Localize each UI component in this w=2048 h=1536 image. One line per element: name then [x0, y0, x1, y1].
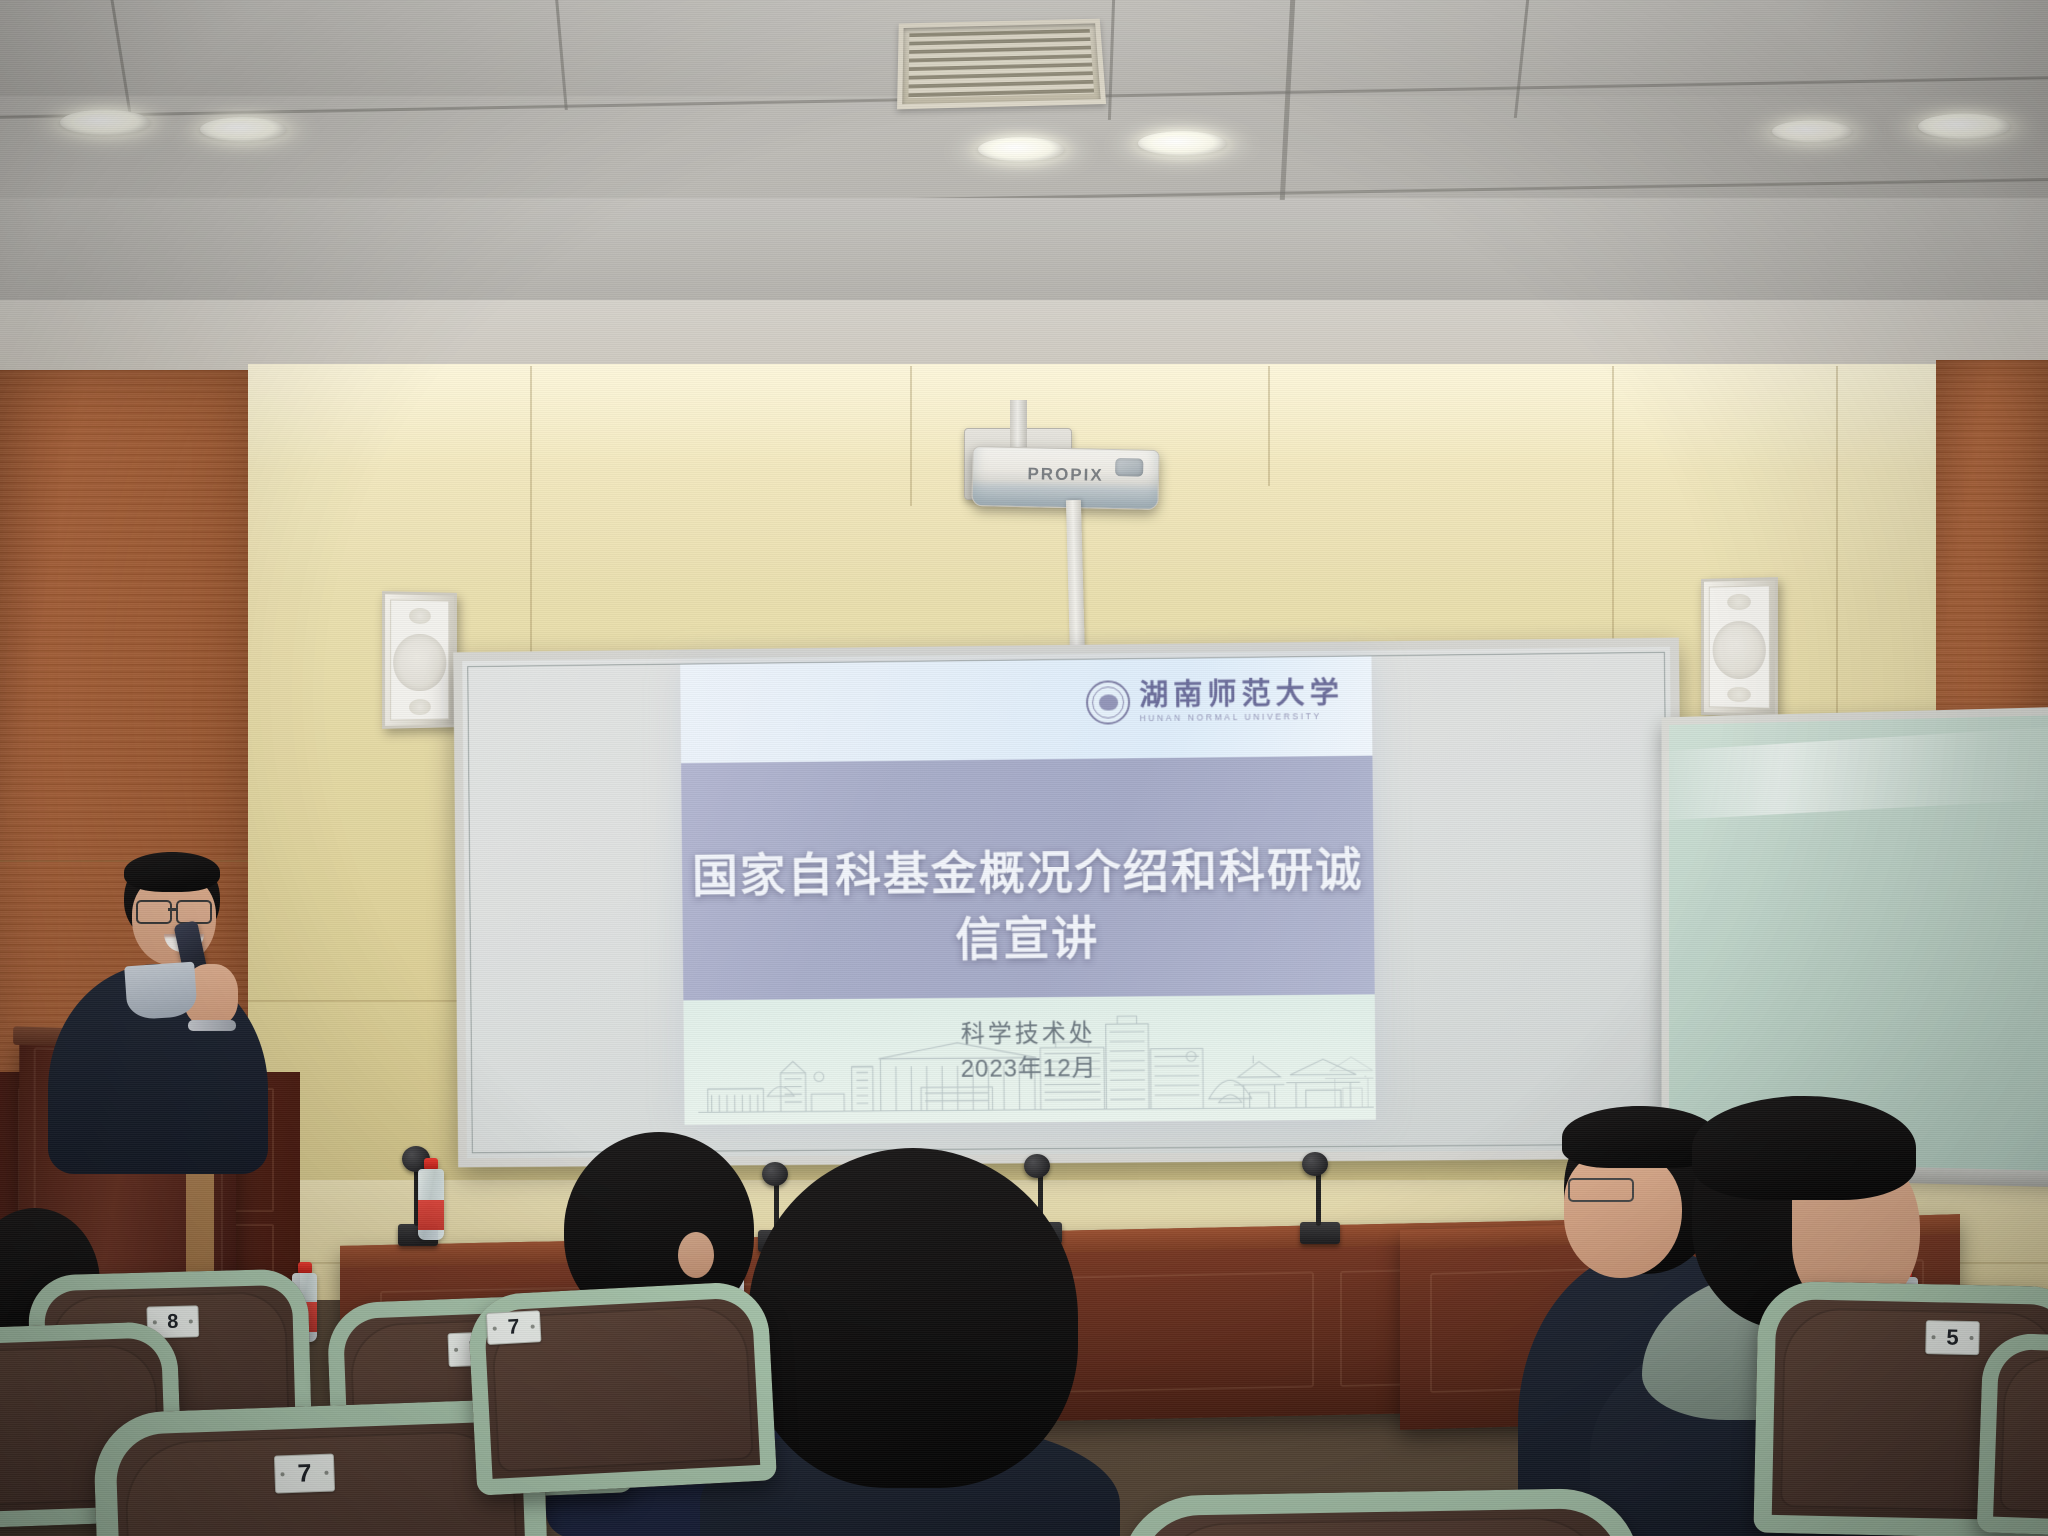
presenter-watch	[188, 1020, 236, 1031]
air-vent-icon	[897, 19, 1106, 110]
downlight-3	[977, 137, 1066, 161]
seat-7-center[interactable]: 7	[467, 1280, 777, 1495]
water-bottle-table-1	[418, 1158, 444, 1240]
wall-speaker-right	[1701, 577, 1778, 717]
presenter-glasses-icon	[136, 900, 172, 924]
downlight-4	[1137, 131, 1228, 155]
audience-member-center	[748, 1148, 1078, 1488]
seat-number-plate-7-center: 7	[486, 1310, 542, 1345]
seat-number-7-center: 7	[507, 1315, 520, 1340]
downlight-1	[59, 110, 152, 135]
university-logo: 湖南师范大学 HUNAN NORMAL UNIVERSITY	[1086, 678, 1344, 725]
campus-skyline-icon	[697, 1009, 1374, 1121]
projector-pole	[1010, 400, 1027, 448]
lecture-hall-photo: PROPIX 湖南师范大学 HUNAN NORMAL UNIVERSITY 国家…	[0, 0, 2048, 1536]
wall-speaker-left	[382, 591, 457, 729]
university-seal-icon	[1086, 680, 1130, 725]
seat-number-5: 5	[1946, 1325, 1959, 1351]
ceiling	[0, 0, 2048, 330]
seat-number-7-front: 7	[297, 1459, 312, 1488]
audience-member-right-hoodie-hair	[1692, 1096, 1916, 1200]
audience-member-center-left-ear	[678, 1232, 714, 1278]
projected-slide: 湖南师范大学 HUNAN NORMAL UNIVERSITY 国家自科基金概况介…	[680, 656, 1376, 1125]
university-name-cn: 湖南师范大学	[1139, 679, 1344, 710]
downlight-5	[1917, 114, 2012, 139]
seat-front-center-partial[interactable]	[1119, 1487, 1642, 1536]
gooseneck-mic-4	[1290, 1148, 1350, 1248]
projector-lens-icon	[1116, 458, 1144, 476]
slide-title: 国家自科基金概况介绍和科研诚信宣讲	[682, 832, 1375, 971]
downlight-6	[1771, 120, 1853, 142]
seat-number-8: 8	[167, 1310, 179, 1333]
downlight-2	[199, 117, 288, 141]
audience-member-right-glasses-icon	[1568, 1178, 1634, 1202]
presenter-glasses-icon-right	[176, 900, 212, 924]
projection-screen-board[interactable]: 湖南师范大学 HUNAN NORMAL UNIVERSITY 国家自科基金概况介…	[453, 638, 1684, 1168]
presenter	[60, 852, 270, 1152]
presenter-collar	[124, 962, 198, 1021]
presenter-fringe	[124, 852, 220, 892]
seat-number-plate-5: 5	[1925, 1320, 1980, 1355]
seat-number-plate-7-front: 7	[274, 1454, 335, 1494]
seat-right-partial[interactable]	[1977, 1332, 2048, 1536]
university-name-en: HUNAN NORMAL UNIVERSITY	[1140, 712, 1345, 723]
